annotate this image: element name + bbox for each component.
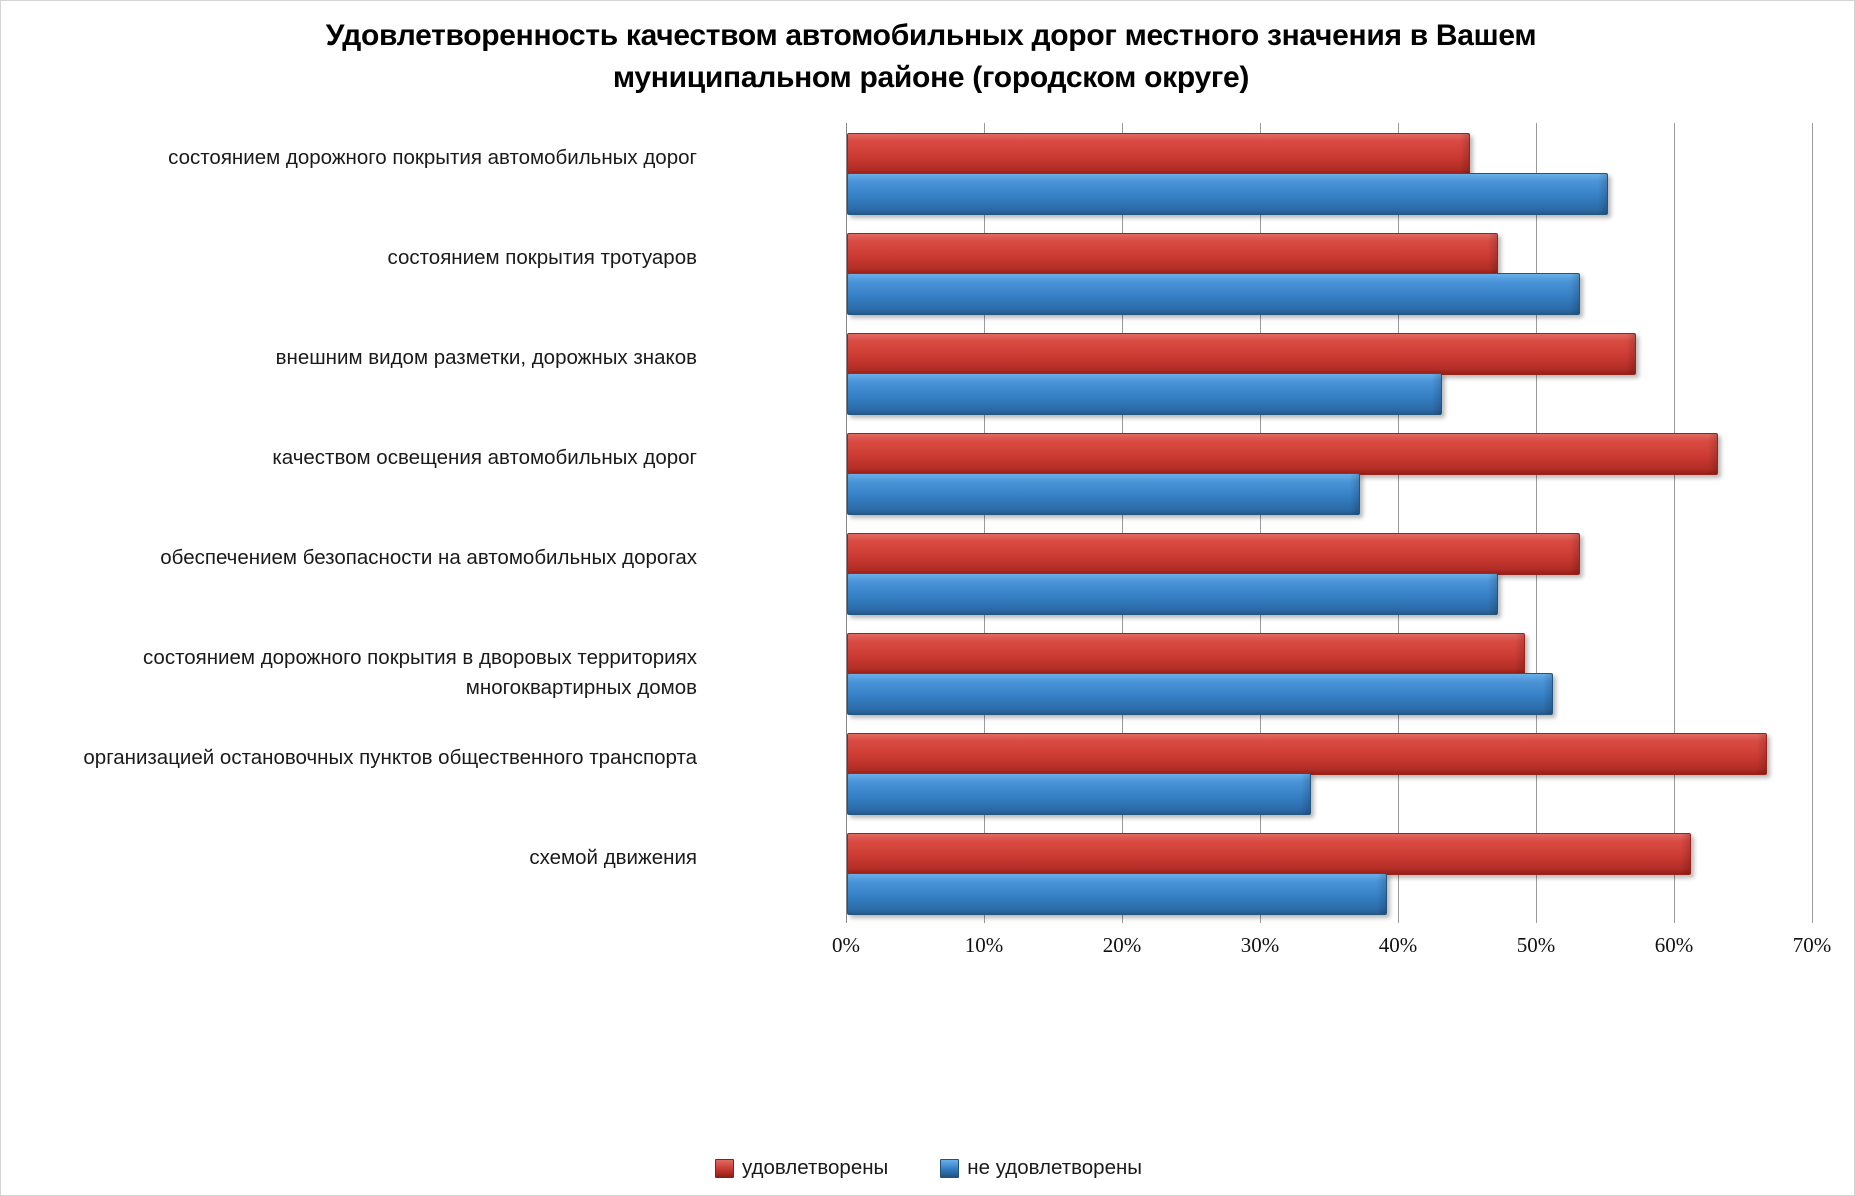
bar-satisfied-7 (847, 833, 1691, 875)
category-label-3: качеством освещения автомобильных дорог (0, 443, 697, 473)
gridline-60 (1674, 123, 1675, 923)
chart-title-line-1: Удовлетворенность качеством автомобильны… (121, 15, 1741, 57)
x-tick-label-40: 40% (1353, 933, 1443, 958)
plot-area (846, 123, 1812, 923)
bar-unsatisfied-5 (847, 673, 1553, 715)
chart-title: Удовлетворенность качеством автомобильны… (121, 15, 1741, 99)
x-tick-label-20: 20% (1077, 933, 1167, 958)
bar-end-cap (1681, 834, 1690, 874)
legend-label: не удовлетворены (967, 1156, 1142, 1180)
bar-end-cap (1543, 674, 1552, 714)
chart-title-line-2: муниципальном районе (городском округе) (121, 57, 1741, 99)
bar-end-cap (1301, 774, 1310, 814)
bar-satisfied-2 (847, 333, 1636, 375)
bar-unsatisfied-7 (847, 873, 1387, 915)
bar-end-cap (1377, 874, 1386, 914)
bar-end-cap (1598, 174, 1607, 214)
bar-satisfied-3 (847, 433, 1718, 475)
bar-end-cap (1350, 474, 1359, 514)
bar-end-cap (1515, 634, 1524, 674)
legend-swatch-red-icon (715, 1159, 734, 1178)
bar-end-cap (1488, 574, 1497, 614)
x-tick-label-30: 30% (1215, 933, 1305, 958)
bar-end-cap (1626, 334, 1635, 374)
bar-satisfied-6 (847, 733, 1767, 775)
bar-unsatisfied-1 (847, 273, 1580, 315)
category-label-5: состоянием дорожного покрытия в дворовых… (0, 643, 697, 703)
bar-unsatisfied-4 (847, 573, 1498, 615)
chart-container: Удовлетворенность качеством автомобильны… (0, 0, 1855, 1196)
category-label-0: состоянием дорожного покрытия автомобиль… (0, 143, 697, 173)
category-label-4: обеспечением безопасности на автомобильн… (0, 543, 697, 573)
x-tick-label-60: 60% (1629, 933, 1719, 958)
gridline-70 (1812, 123, 1813, 923)
bar-end-cap (1432, 374, 1441, 414)
gridline-50 (1536, 123, 1537, 923)
x-tick-label-10: 10% (939, 933, 1029, 958)
legend-swatch-blue-icon (940, 1159, 959, 1178)
category-label-1: состоянием покрытия тротуаров (0, 243, 697, 273)
bar-satisfied-1 (847, 233, 1498, 275)
bar-satisfied-0 (847, 133, 1470, 175)
bar-unsatisfied-2 (847, 373, 1442, 415)
category-label-7: схемой движения (0, 843, 697, 873)
legend-item-1[interactable]: не удовлетворены (940, 1156, 1142, 1180)
category-label-6: организацией остановочных пунктов общест… (0, 743, 697, 773)
bar-unsatisfied-6 (847, 773, 1311, 815)
legend-item-0[interactable]: удовлетворены (715, 1156, 888, 1180)
bar-end-cap (1570, 274, 1579, 314)
chart-legend: удовлетвореныне удовлетворены (1, 1156, 1855, 1180)
bar-end-cap (1708, 434, 1717, 474)
x-tick-label-50: 50% (1491, 933, 1581, 958)
bar-end-cap (1488, 234, 1497, 274)
x-tick-label-0: 0% (801, 933, 891, 958)
bar-unsatisfied-0 (847, 173, 1608, 215)
x-tick-label-70: 70% (1767, 933, 1855, 958)
legend-label: удовлетворены (742, 1156, 888, 1180)
bar-satisfied-4 (847, 533, 1580, 575)
bar-unsatisfied-3 (847, 473, 1360, 515)
bar-end-cap (1460, 134, 1469, 174)
bar-end-cap (1570, 534, 1579, 574)
bar-end-cap (1757, 734, 1766, 774)
bar-satisfied-5 (847, 633, 1525, 675)
category-label-2: внешним видом разметки, дорожных знаков (0, 343, 697, 373)
